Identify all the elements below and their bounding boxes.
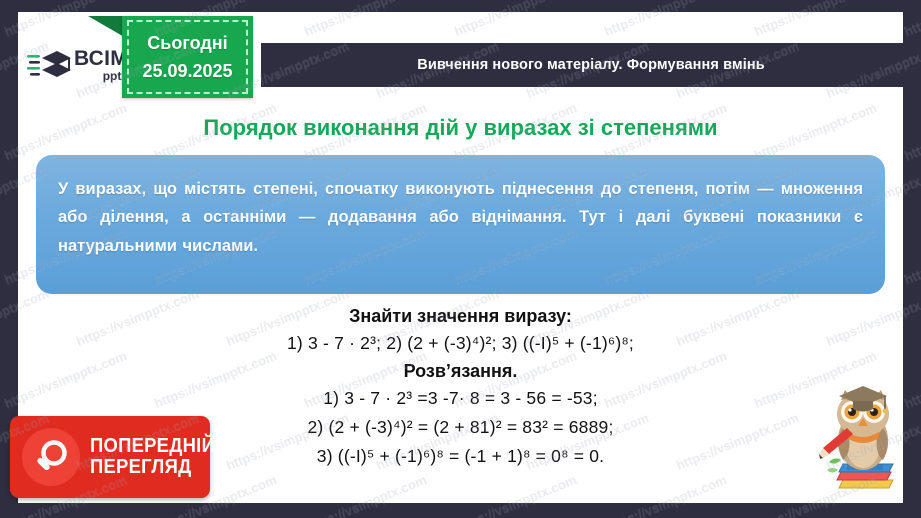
header-title: Вивчення нового матеріалу. Формування вм… xyxy=(261,43,903,87)
preview-label-line1: ПОПЕРЕДНІЙ xyxy=(90,436,215,457)
owl-mascot-icon xyxy=(813,384,903,502)
date-value: 25.09.2025 xyxy=(142,61,232,82)
graduation-cap-icon xyxy=(26,45,72,85)
rule-box: У виразах, що містять степені, спочатку … xyxy=(36,155,885,294)
brand-text: ВСІМ pptx xyxy=(74,48,128,82)
slide-frame: Вивчення нового матеріалу. Формування вм… xyxy=(0,0,921,518)
watermark-text: https://vsimpptx.com xyxy=(902,100,921,163)
date-today-label: Сьогодні xyxy=(147,33,227,54)
brand-subtitle: pptx xyxy=(74,70,128,82)
task-items-line: 1) 3 - 7 · 2³; 2) (2 + (-3)⁴)²; 3) ((-I)… xyxy=(18,333,903,354)
preview-labels: ПОПЕРЕДНІЙ ПЕРЕГЛЯД xyxy=(90,436,226,478)
preview-label-line2: ПЕРЕГЛЯД xyxy=(90,457,215,478)
rule-text: У виразах, що містять степені, спочатку … xyxy=(58,175,863,260)
section-title: Порядок виконання дій у виразах зі степе… xyxy=(18,115,903,141)
solution-heading: Розв’язання. xyxy=(18,361,903,382)
watermark-text: https://vsimpptx.com xyxy=(902,0,921,39)
preview-badge[interactable]: ПОПЕРЕДНІЙ ПЕРЕГЛЯД xyxy=(10,416,210,498)
watermark-text: https://vsimpptx.com xyxy=(902,472,921,518)
magnifier-icon xyxy=(22,428,80,486)
header-bar: Вивчення нового матеріалу. Формування вм… xyxy=(261,43,903,87)
watermark-text: https://vsimpptx.com xyxy=(902,224,921,287)
solution-line: 1) 3 - 7 · 2³ =3 -7· 8 = 3 - 56 = -53; xyxy=(18,388,903,409)
brand-name: ВСІМ xyxy=(74,48,128,69)
task-heading: Знайти значення виразу: xyxy=(18,306,903,327)
date-tag-fold xyxy=(88,16,126,38)
watermark-text: https://vsimpptx.com xyxy=(902,348,921,411)
date-tag: Сьогодні 25.09.2025 xyxy=(122,16,253,98)
